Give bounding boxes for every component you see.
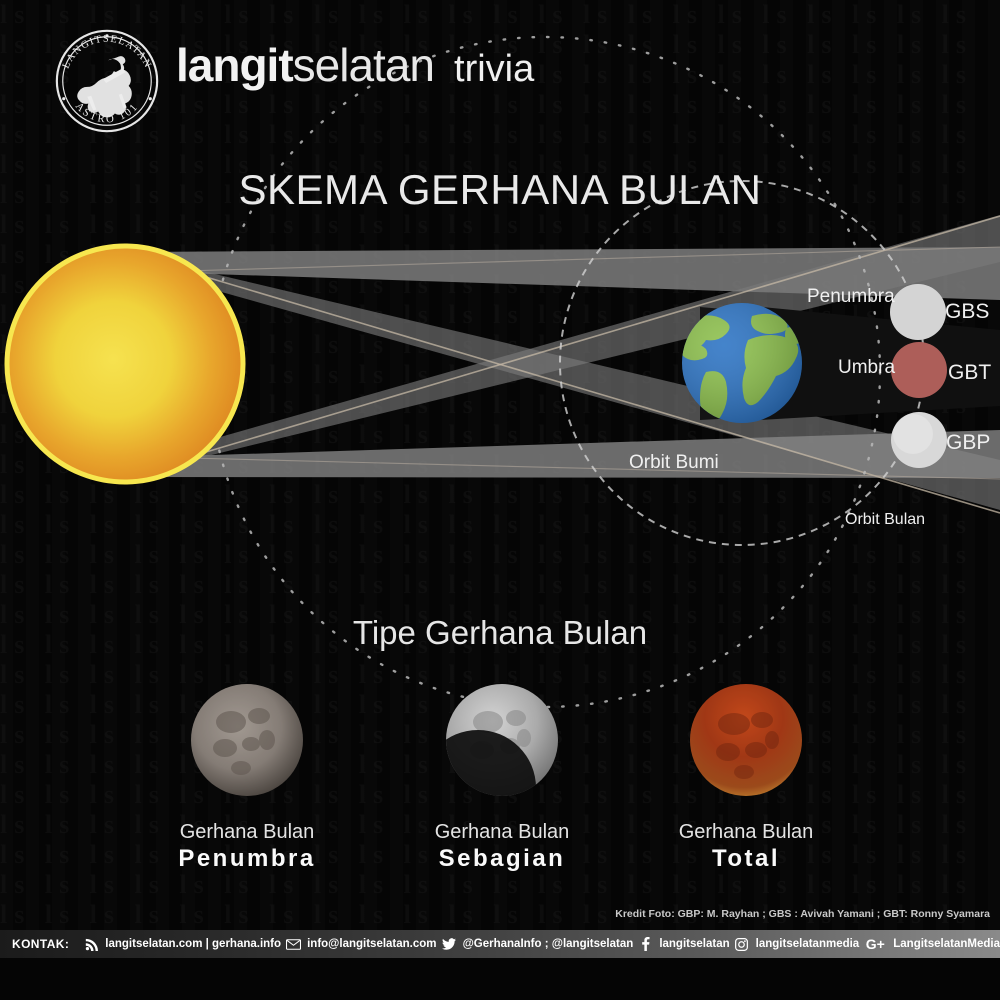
sun-graphic [7, 246, 243, 482]
wordmark-bold: langit [176, 38, 293, 92]
googleplus-icon: G+ [863, 937, 887, 951]
facebook-icon [637, 937, 653, 951]
wordmark: langit selatan trivia [176, 38, 534, 100]
label-umbra: Umbra [838, 357, 895, 379]
wordmark-trivia: trivia [454, 48, 534, 91]
moon-type-caption: Gerhana Bulan Penumbra [127, 821, 367, 873]
footer-item-googleplus[interactable]: G+ LangitselatanMedia [863, 937, 1000, 951]
email-icon [285, 937, 301, 951]
footer-item-facebook[interactable]: langitselatan [637, 937, 729, 951]
moon-type-card-penumbra: Gerhana Bulan Penumbra [127, 682, 367, 873]
footer-item-twitter[interactable]: @GerhanaInfo ; @langitselatan [441, 937, 634, 951]
moon-type-line1: Gerhana Bulan [626, 821, 866, 844]
twitter-icon [441, 937, 457, 951]
logo-ring-top-text: LANGITSELATAN [61, 34, 154, 71]
footer-item-email[interactable]: info@langitselatan.com [285, 937, 436, 951]
footer-bottom-strip [0, 958, 1000, 1000]
moon-type-caption: Gerhana Bulan Total [626, 821, 866, 873]
footer-item-text: langitselatan.com | gerhana.info [105, 938, 281, 950]
infographic-canvas: ls ls ls ls ls ls ls ls ls ls ls ls ls l… [0, 0, 1000, 1000]
footer-item-text: LangitselatanMedia [893, 938, 1000, 950]
label-penumbra: Penumbra [807, 286, 895, 308]
label-gbs: GBS [945, 300, 989, 324]
footer-item-instagram[interactable]: langitselatanmedia [734, 937, 860, 951]
page-title: SKEMA GERHANA BULAN [0, 166, 1000, 214]
label-gbp: GBP [946, 431, 990, 455]
wordmark-light: selatan [293, 38, 434, 92]
rss-icon [83, 937, 99, 951]
label-orbit-bulan: Orbit Bulan [845, 511, 925, 529]
kontak-label: KONTAK: [0, 937, 79, 951]
section-title-moon-types: Tipe Gerhana Bulan [0, 614, 1000, 652]
langitselatan-logo: LANGITSELATAN ASTRO 101 [48, 22, 166, 140]
instagram-icon [734, 937, 750, 951]
moon-type-line1: Gerhana Bulan [127, 821, 367, 844]
moon-type-line1: Gerhana Bulan [382, 821, 622, 844]
footer-item-website[interactable]: langitselatan.com | gerhana.info [83, 937, 281, 951]
footer-item-text: langitselatanmedia [756, 938, 860, 950]
moon-type-caption: Gerhana Bulan Sebagian [382, 821, 622, 873]
moon-photo-partial [444, 682, 560, 798]
moon-photo-penumbral [189, 682, 305, 798]
footer-item-text: langitselatan [659, 938, 729, 950]
footer-item-text: info@langitselatan.com [307, 938, 436, 950]
diagram-moon-gbt [891, 342, 947, 398]
moon-type-line2: Penumbra [127, 845, 367, 873]
moon-type-line2: Total [626, 845, 866, 873]
moon-photo-total [688, 682, 804, 798]
footer-item-text: @GerhanaInfo ; @langitselatan [463, 938, 634, 950]
photo-credit: Kredit Foto: GBP: M. Rayhan ; GBS : Aviv… [615, 908, 990, 920]
label-gbt: GBT [948, 361, 991, 385]
moon-type-line2: Sebagian [382, 845, 622, 873]
moon-type-card-partial: Gerhana Bulan Sebagian [382, 682, 622, 873]
moon-type-card-total: Gerhana Bulan Total [626, 682, 866, 873]
contact-footer: KONTAK: langitselatan.com | gerhana.info… [0, 930, 1000, 958]
label-orbit-bumi: Orbit Bumi [629, 452, 719, 474]
diagram-moon-gbp [891, 412, 947, 468]
